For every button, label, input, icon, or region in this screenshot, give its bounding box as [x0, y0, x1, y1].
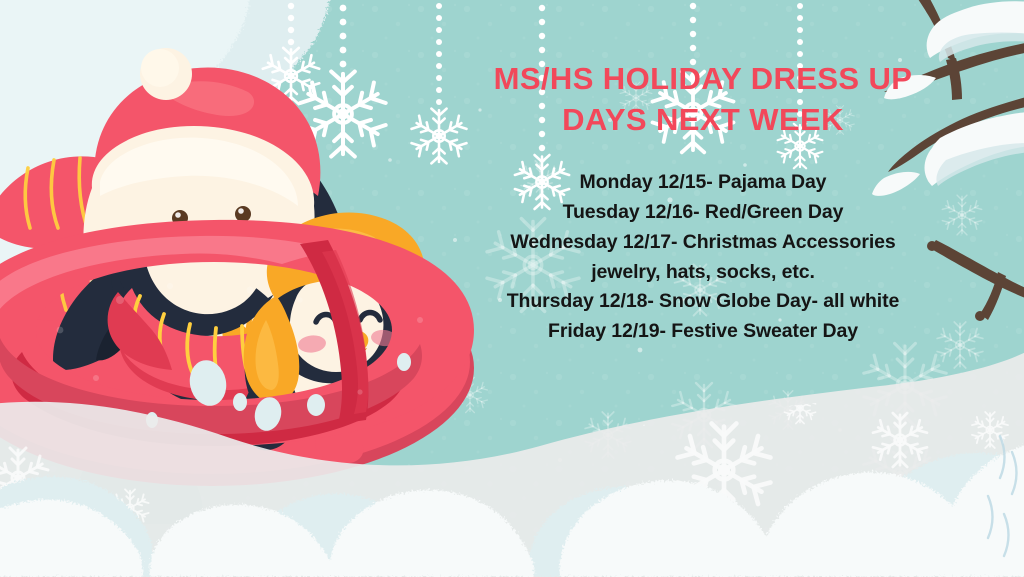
holiday-dress-up-poster: MS/HS HOLIDAY DRESS UP DAYS NEXT WEEK Mo… [0, 0, 1024, 577]
foreground-snow-bank [0, 0, 1024, 577]
